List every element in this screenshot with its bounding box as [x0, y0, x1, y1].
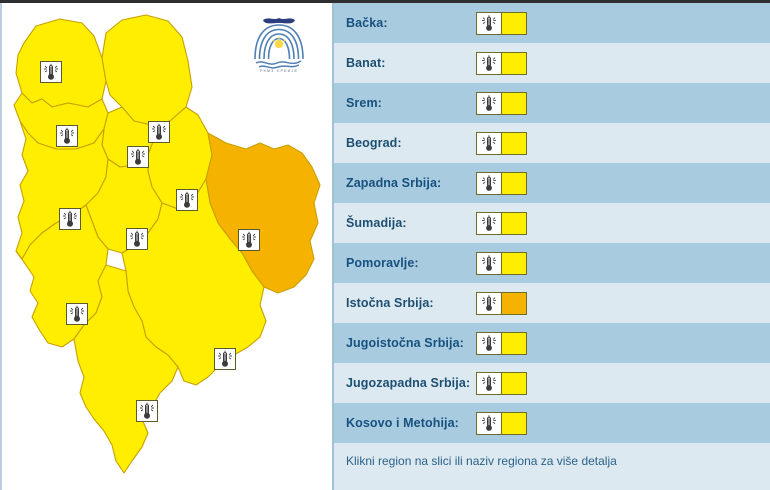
list-item[interactable]: Banat:: [334, 43, 770, 83]
list-item[interactable]: Zapadna Srbija:: [334, 163, 770, 203]
warning-level-swatch: [502, 373, 526, 394]
warning-level-swatch: [502, 213, 526, 234]
warning-chip[interactable]: [476, 212, 527, 235]
region-name-banat[interactable]: Banat:: [334, 56, 476, 70]
thermometer-icon: [177, 190, 197, 210]
thermometer-icon: [67, 304, 87, 324]
region-name-zapadna-srbija[interactable]: Zapadna Srbija:: [334, 176, 476, 190]
rhmz-logo: РХМЗ СРБИЈЕ: [251, 11, 307, 73]
thermometer-icon: [477, 413, 502, 434]
list-item[interactable]: Jugozapadna Srbija:: [334, 363, 770, 403]
region-name-sumadija[interactable]: Šumadija:: [334, 216, 476, 230]
warning-level-swatch: [502, 173, 526, 194]
thermometer-icon: [477, 333, 502, 354]
thermometer-icon: [57, 126, 77, 146]
list-item[interactable]: Beograd:: [334, 123, 770, 163]
warning-chip[interactable]: [476, 412, 527, 435]
map-marker-jugozapadna-srbija[interactable]: [66, 303, 88, 325]
map-marker-srem[interactable]: [56, 125, 78, 147]
thermometer-icon: [477, 13, 502, 34]
region-name-kosovo-i-metohija[interactable]: Kosovo i Metohija:: [334, 416, 476, 430]
map-region-banat[interactable]: [102, 15, 192, 125]
warning-chip[interactable]: [476, 92, 527, 115]
thermometer-icon: [149, 122, 169, 142]
warning-chip[interactable]: [476, 172, 527, 195]
list-item[interactable]: Srem:: [334, 83, 770, 123]
region-name-beograd[interactable]: Beograd:: [334, 136, 476, 150]
thermometer-icon: [128, 147, 148, 167]
thermometer-icon: [477, 373, 502, 394]
svg-text:РХМЗ СРБИЈЕ: РХМЗ СРБИЈЕ: [260, 69, 298, 73]
warning-chip[interactable]: [476, 132, 527, 155]
serbia-warning-map[interactable]: РХМЗ СРБИЈЕ: [0, 3, 332, 490]
thermometer-icon: [477, 53, 502, 74]
thermometer-icon: [127, 229, 147, 249]
region-name-jugozapadna-srbija[interactable]: Jugozapadna Srbija:: [334, 376, 476, 390]
thermometer-icon: [137, 401, 157, 421]
map-marker-zapadna-srbija[interactable]: [59, 208, 81, 230]
region-name-pomoravlje[interactable]: Pomoravlje:: [334, 256, 476, 270]
warning-chip[interactable]: [476, 332, 527, 355]
region-name-jugoistocna-srbija[interactable]: Jugoistočna Srbija:: [334, 336, 476, 350]
warning-level-swatch: [502, 53, 526, 74]
map-marker-backa[interactable]: [40, 61, 62, 83]
map-marker-beograd[interactable]: [127, 146, 149, 168]
list-item[interactable]: Istočna Srbija:: [334, 283, 770, 323]
list-item[interactable]: Pomoravlje:: [334, 243, 770, 283]
warning-level-swatch: [502, 93, 526, 114]
warning-chip[interactable]: [476, 12, 527, 35]
thermometer-icon: [215, 349, 235, 369]
thermometer-icon: [60, 209, 80, 229]
warning-level-swatch: [502, 253, 526, 274]
list-item[interactable]: Jugoistočna Srbija:: [334, 323, 770, 363]
warning-level-swatch: [502, 333, 526, 354]
list-item[interactable]: Kosovo i Metohija:: [334, 403, 770, 443]
map-marker-pomoravlje[interactable]: [176, 189, 198, 211]
map-marker-sumadija[interactable]: [126, 228, 148, 250]
thermometer-icon: [239, 230, 259, 250]
warning-level-swatch: [502, 133, 526, 154]
region-name-backa[interactable]: Bačka:: [334, 16, 476, 30]
thermometer-icon: [477, 213, 502, 234]
region-warning-list: Bačka:: [332, 3, 770, 490]
warning-level-swatch: [502, 413, 526, 434]
map-hint-text: Klikni region na slici ili naziv regiona…: [346, 454, 617, 468]
thermometer-icon: [477, 133, 502, 154]
map-marker-istocna-srbija[interactable]: [238, 229, 260, 251]
region-name-istocna-srbija[interactable]: Istočna Srbija:: [334, 296, 476, 310]
thermometer-icon: [41, 62, 61, 82]
warning-chip[interactable]: [476, 252, 527, 275]
thermometer-icon: [477, 173, 502, 194]
warning-chip[interactable]: [476, 52, 527, 75]
warning-chip[interactable]: [476, 292, 527, 315]
thermometer-icon: [477, 293, 502, 314]
thermometer-icon: [477, 93, 502, 114]
thermometer-icon: [477, 253, 502, 274]
map-hint-footer: Klikni region na slici ili naziv regiona…: [334, 443, 770, 490]
warning-level-swatch: [502, 13, 526, 34]
weather-warning-widget: РХМЗ СРБИЈЕ: [0, 0, 770, 490]
map-marker-jugoistocna-srbija[interactable]: [214, 348, 236, 370]
list-item[interactable]: Bačka:: [334, 3, 770, 43]
warning-level-swatch: [502, 293, 526, 314]
warning-chip[interactable]: [476, 372, 527, 395]
map-marker-kosovo-i-metohija[interactable]: [136, 400, 158, 422]
region-name-srem[interactable]: Srem:: [334, 96, 476, 110]
map-marker-banat[interactable]: [148, 121, 170, 143]
list-item[interactable]: Šumadija:: [334, 203, 770, 243]
